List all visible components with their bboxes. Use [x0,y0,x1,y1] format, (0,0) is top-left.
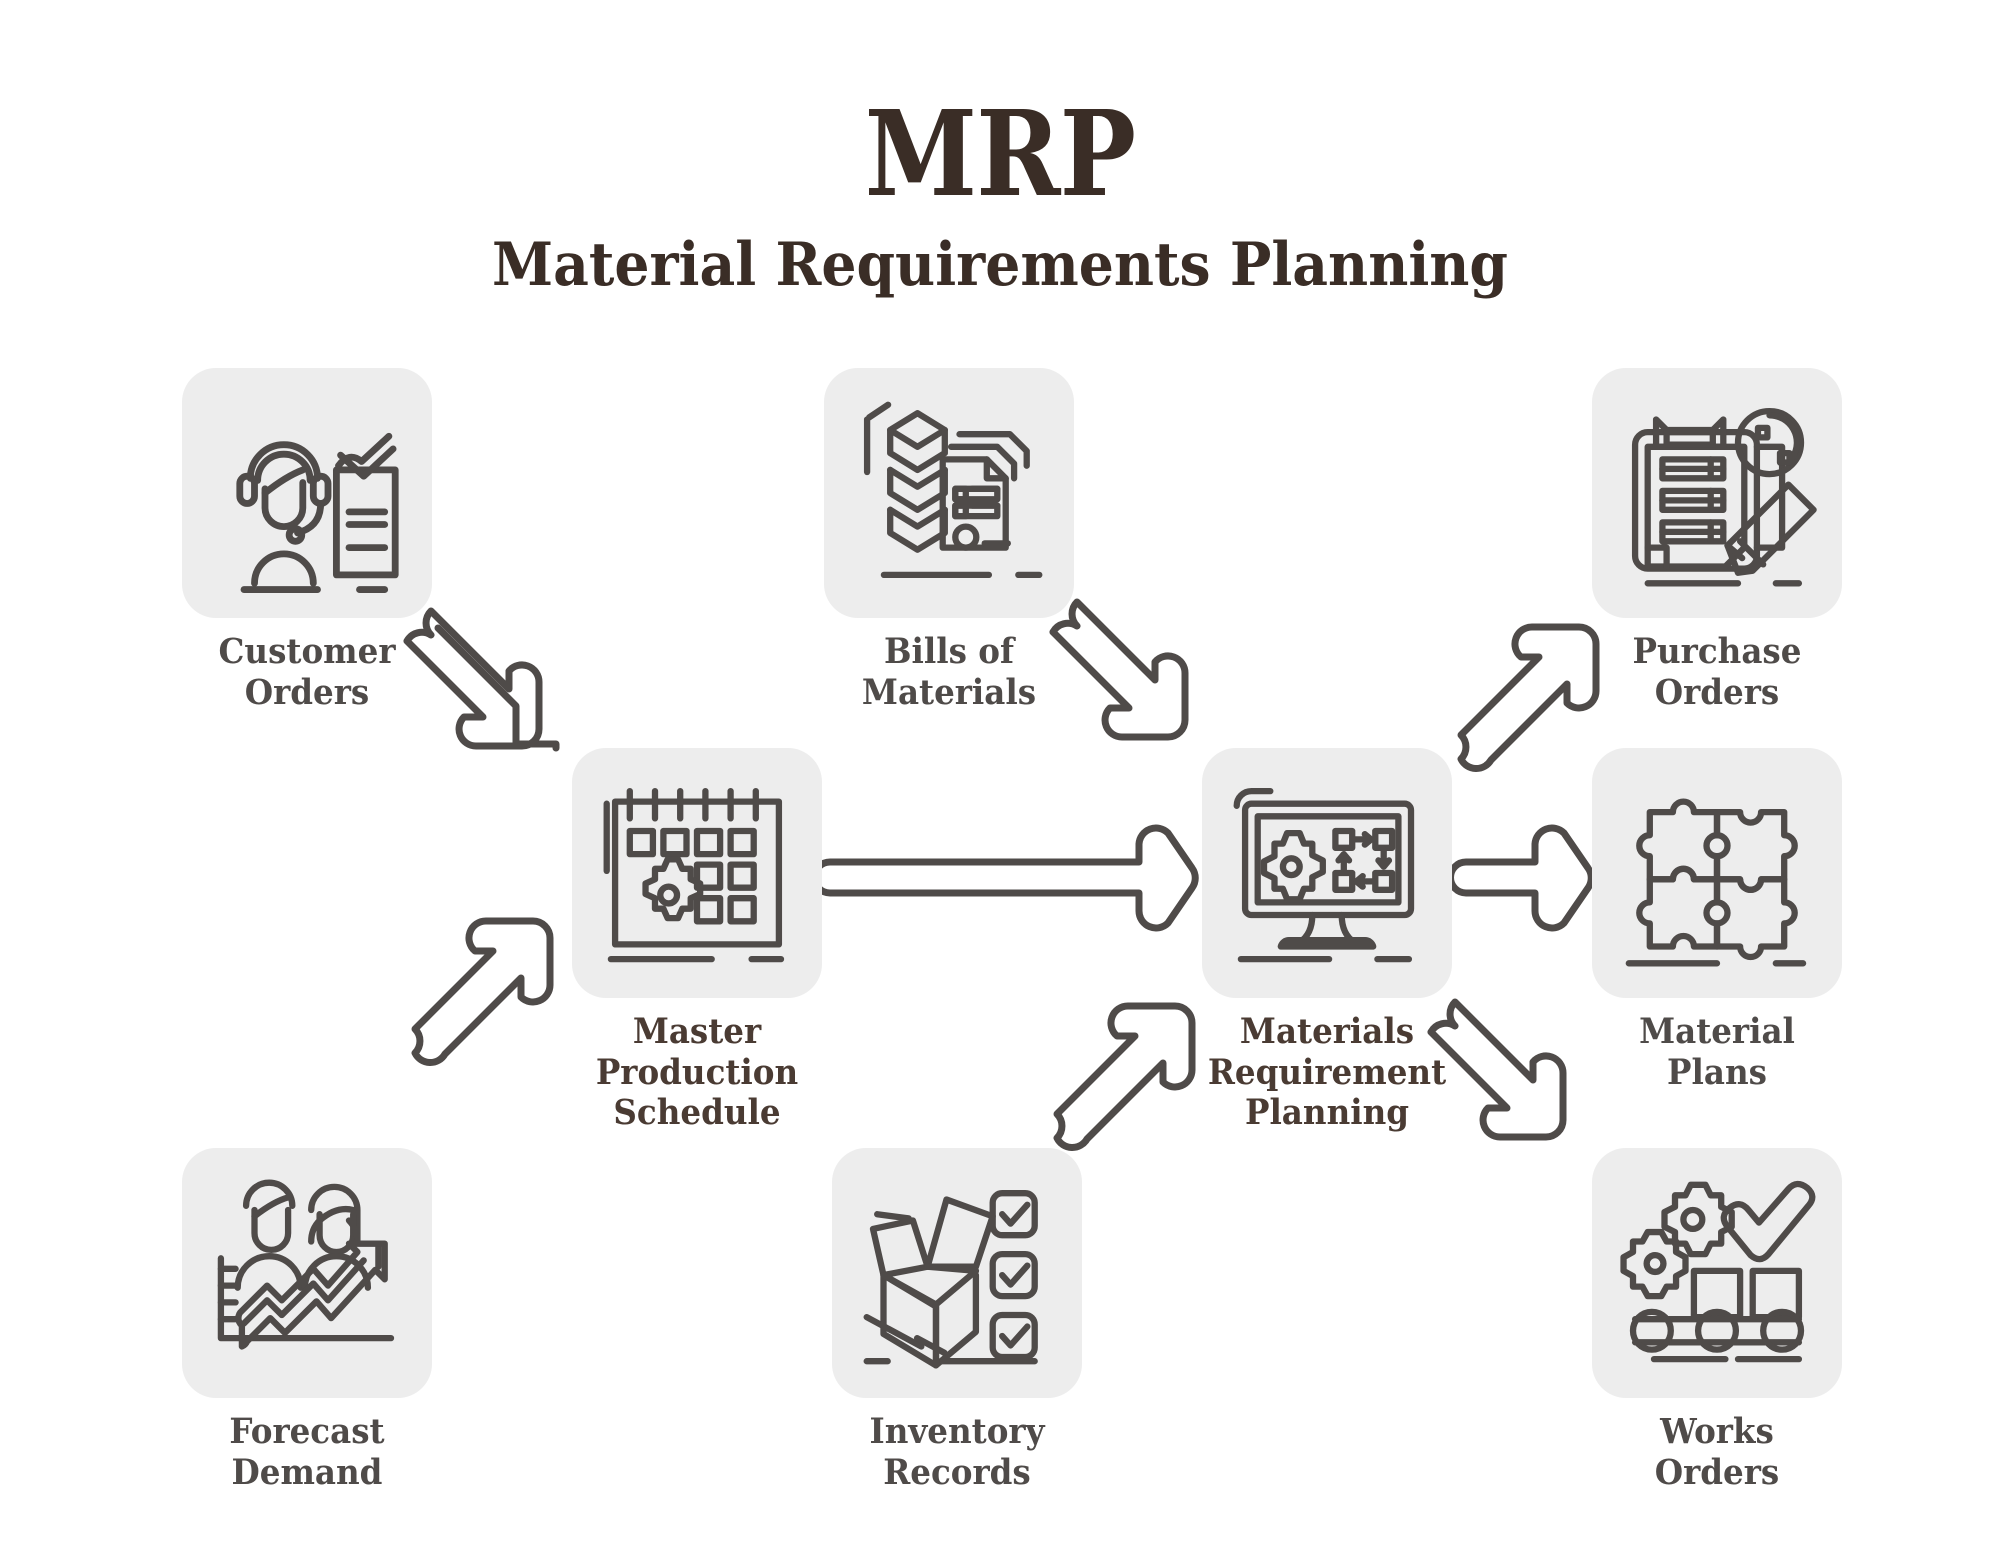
headset-agent-document-check-icon [202,388,412,598]
arrow-customer-orders-to-mps [438,628,556,748]
node-material-plans[interactable]: Material Plans [1592,748,1847,1093]
label-inventory-records: Inventory Records [836,1412,1078,1493]
clipboard-pen-timer-icon [1612,388,1822,598]
page-title: MRP [140,95,1860,213]
open-box-checklist-icon [852,1168,1062,1378]
node-inventory-records[interactable]: Inventory Records [832,1148,1087,1493]
tile-material-plans [1592,748,1842,998]
tile-bills-of-materials [824,368,1074,618]
label-materials-requirement-planning: Materials Requirement Planning [1174,1012,1481,1134]
tile-works-orders [1592,1148,1842,1398]
node-works-orders[interactable]: Works Orders [1592,1148,1847,1493]
arrow-mps-to-mrp [815,828,1196,928]
label-master-production-schedule: Master Production Schedule [576,1012,818,1134]
node-forecast-demand[interactable]: Forecast Demand [182,1148,437,1493]
tile-forecast-demand [182,1148,432,1398]
arrow-inventory-records-to-mrp [1057,1006,1192,1148]
arrow-forecast-demand-to-mps [415,921,550,1063]
tile-customer-orders [182,368,432,618]
tile-purchase-orders [1592,368,1842,618]
label-bills-of-materials: Bills of Materials [828,632,1070,713]
node-customer-orders[interactable]: Customer Orders [182,368,437,713]
tile-master-production-schedule [572,748,822,998]
label-material-plans: Material Plans [1596,1012,1838,1093]
jigsaw-puzzle-icon [1612,768,1822,978]
node-bills-of-materials[interactable]: Bills of Materials [824,368,1079,713]
mrp-infographic: MRP Material Requirements Planning [0,0,2000,1562]
calendar-gear-icon [592,768,802,978]
tile-materials-requirement-planning [1202,748,1452,998]
node-materials-requirement-planning[interactable]: Materials Requirement Planning [1202,748,1492,1134]
stacked-cubes-documents-icon [844,388,1054,598]
gears-conveyor-check-icon [1612,1168,1822,1378]
label-works-orders: Works Orders [1596,1412,1838,1493]
label-forecast-demand: Forecast Demand [186,1412,428,1493]
page-subtitle: Material Requirements Planning [80,235,1920,295]
node-purchase-orders[interactable]: Purchase Orders [1592,368,1847,713]
label-purchase-orders: Purchase Orders [1596,632,1838,713]
monitor-gear-flowchart-icon [1222,768,1432,978]
node-master-production-schedule[interactable]: Master Production Schedule [572,748,827,1134]
tile-inventory-records [832,1148,1082,1398]
people-trend-chart-icon [202,1168,412,1378]
label-customer-orders: Customer Orders [186,632,428,713]
